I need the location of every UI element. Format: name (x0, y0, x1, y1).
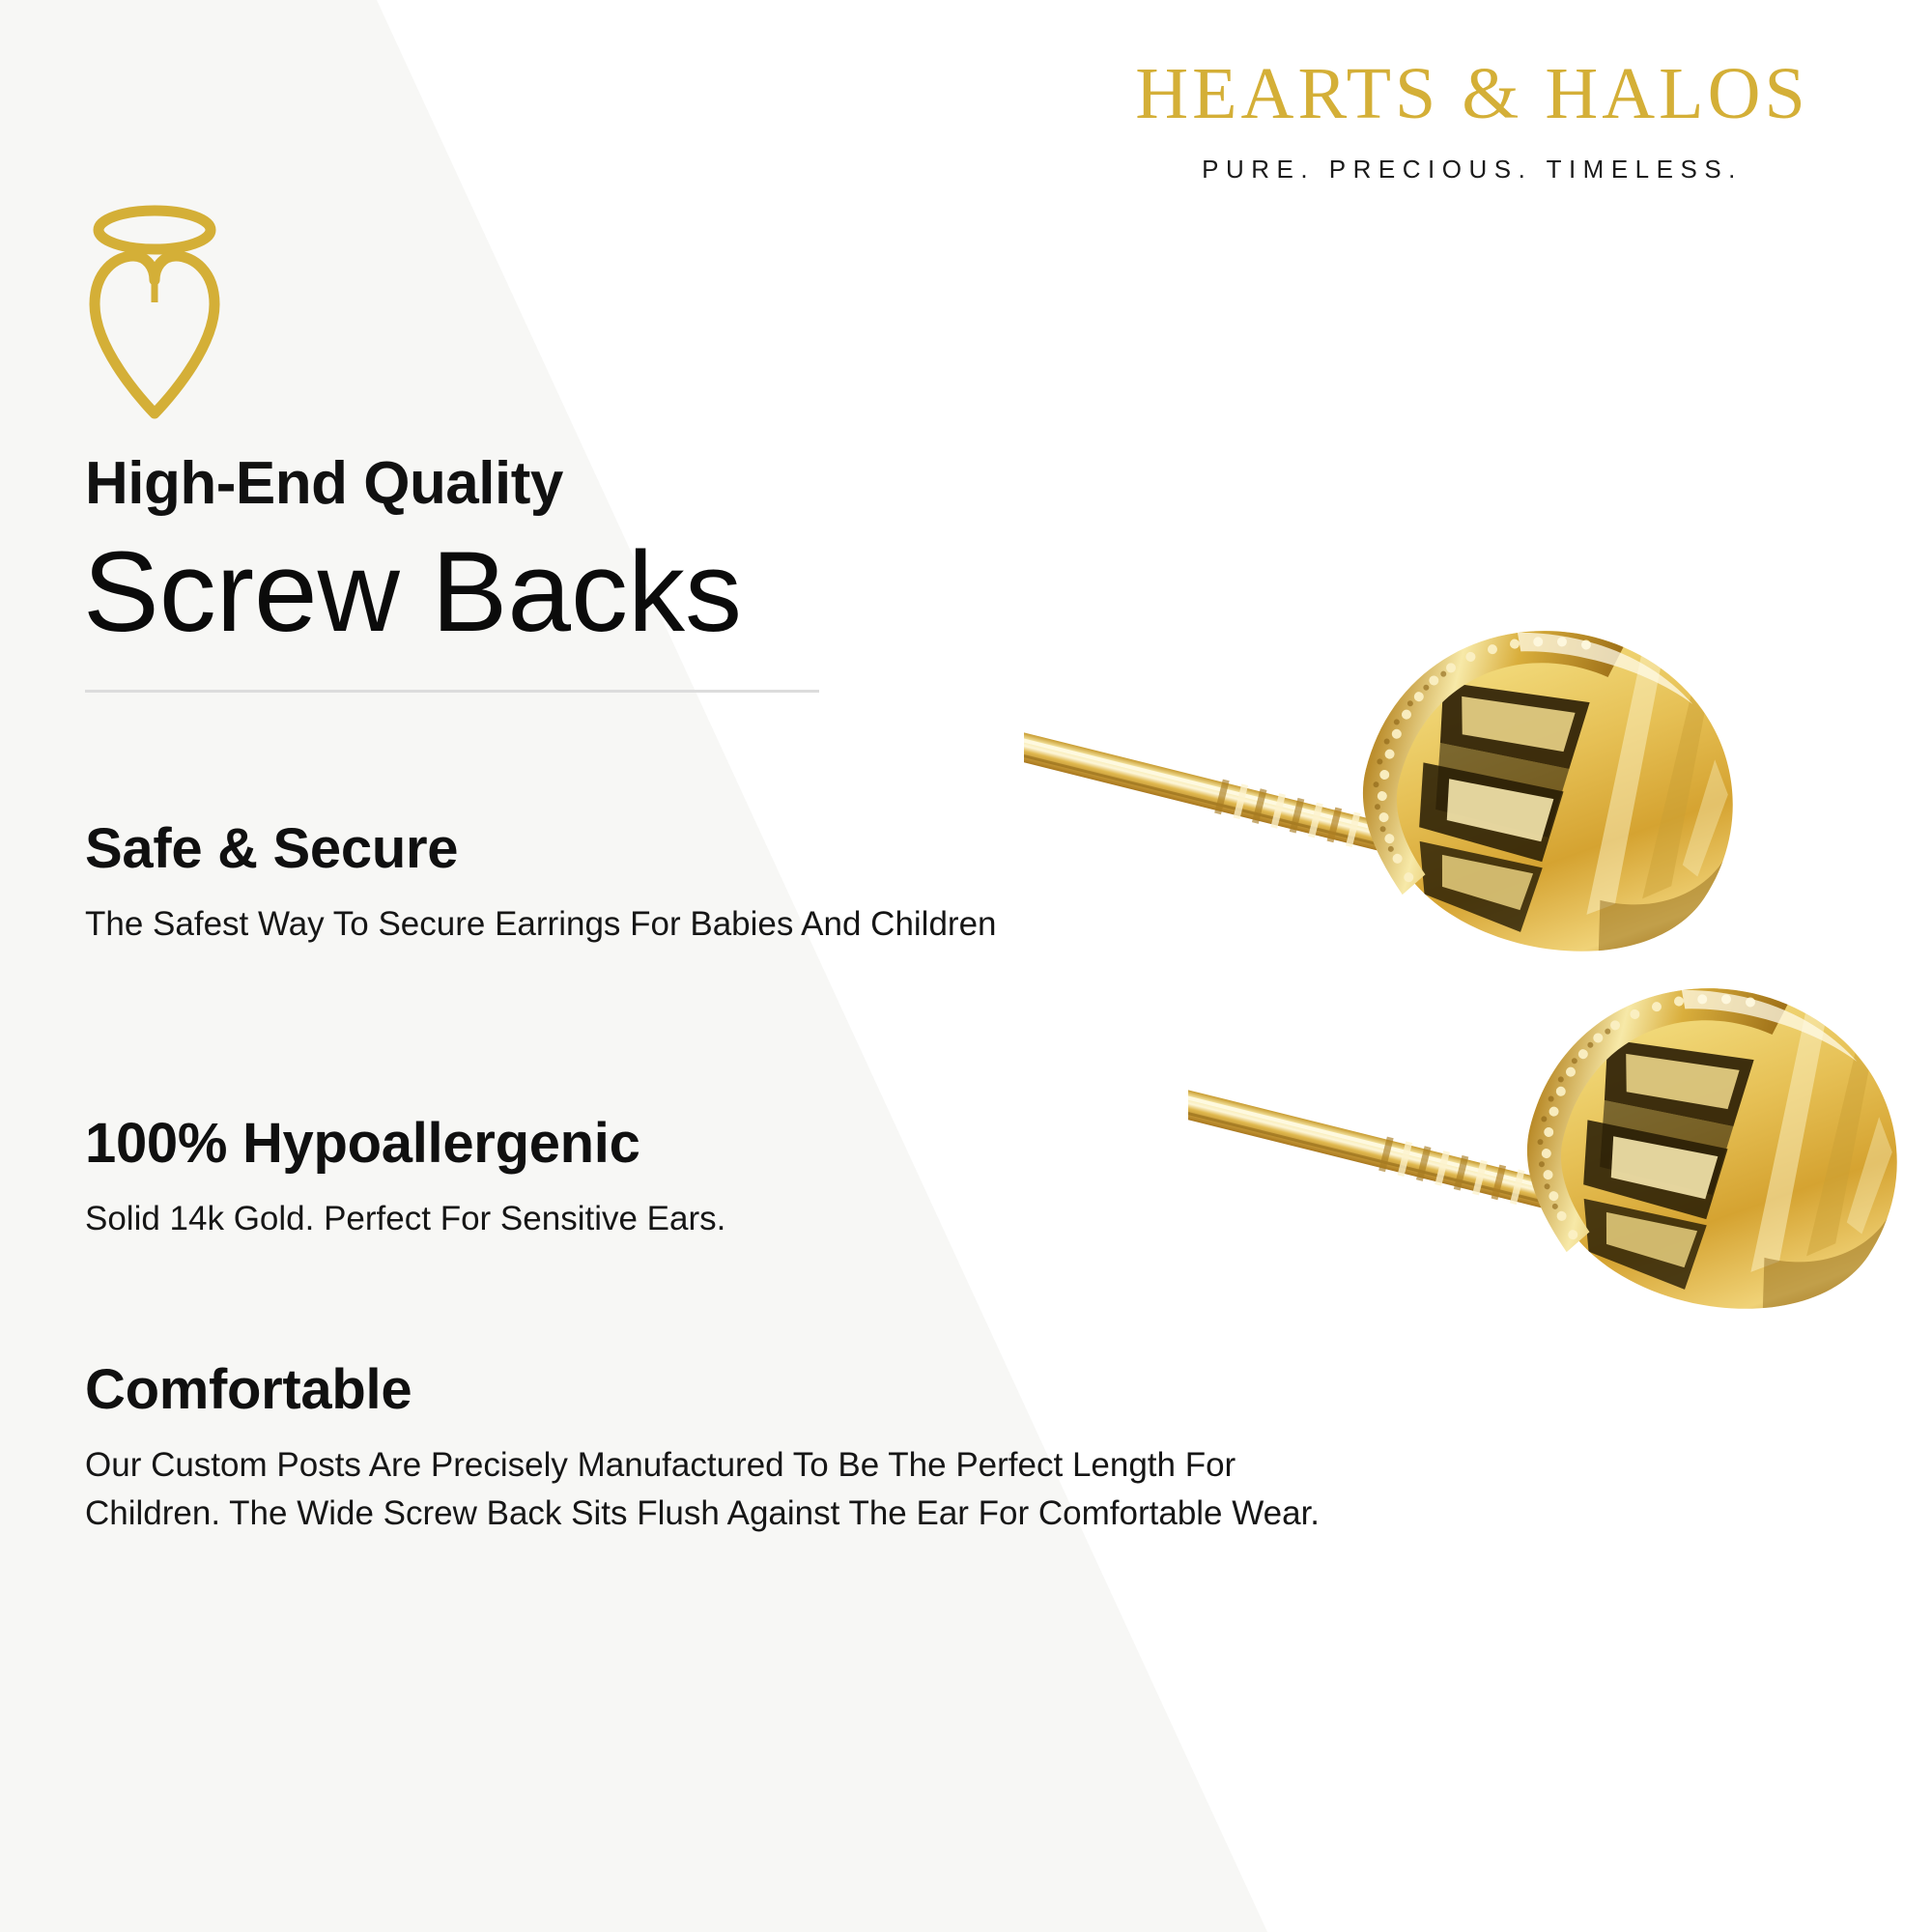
feature-body: Solid 14k Gold. Perfect For Sensitive Ea… (85, 1195, 1051, 1243)
feature-block-comfortable: Comfortable Our Custom Posts Are Precise… (85, 1357, 1379, 1537)
feature-block-safe-secure: Safe & Secure The Safest Way To Secure E… (85, 816, 1051, 949)
feature-title: 100% Hypoallergenic (85, 1111, 1051, 1176)
brand-tagline: PURE. PRECIOUS. TIMELESS. (1105, 155, 1839, 185)
brand-logo: HEARTS & HALOS PURE. PRECIOUS. TIMELESS. (1105, 56, 1839, 185)
feature-title: Comfortable (85, 1357, 1379, 1422)
feature-body: The Safest Way To Secure Earrings For Ba… (85, 900, 1051, 949)
infographic-canvas: HEARTS & HALOS PURE. PRECIOUS. TIMELESS.… (0, 0, 1932, 1932)
feature-block-hypoallergenic: 100% Hypoallergenic Solid 14k Gold. Perf… (85, 1111, 1051, 1243)
eyebrow-text: High-End Quality (85, 449, 563, 518)
product-image-screw-back-earring-bottom (1188, 956, 1932, 1362)
title-divider (85, 690, 819, 693)
page-title: Screw Backs (83, 533, 742, 653)
feature-title: Safe & Secure (85, 816, 1051, 881)
brand-name: HEARTS & HALOS (1105, 56, 1839, 133)
feature-body: Our Custom Posts Are Precisely Manufactu… (85, 1441, 1379, 1537)
product-image-screw-back-earring-top (1024, 599, 1816, 1005)
heart-halo-icon (77, 174, 232, 420)
